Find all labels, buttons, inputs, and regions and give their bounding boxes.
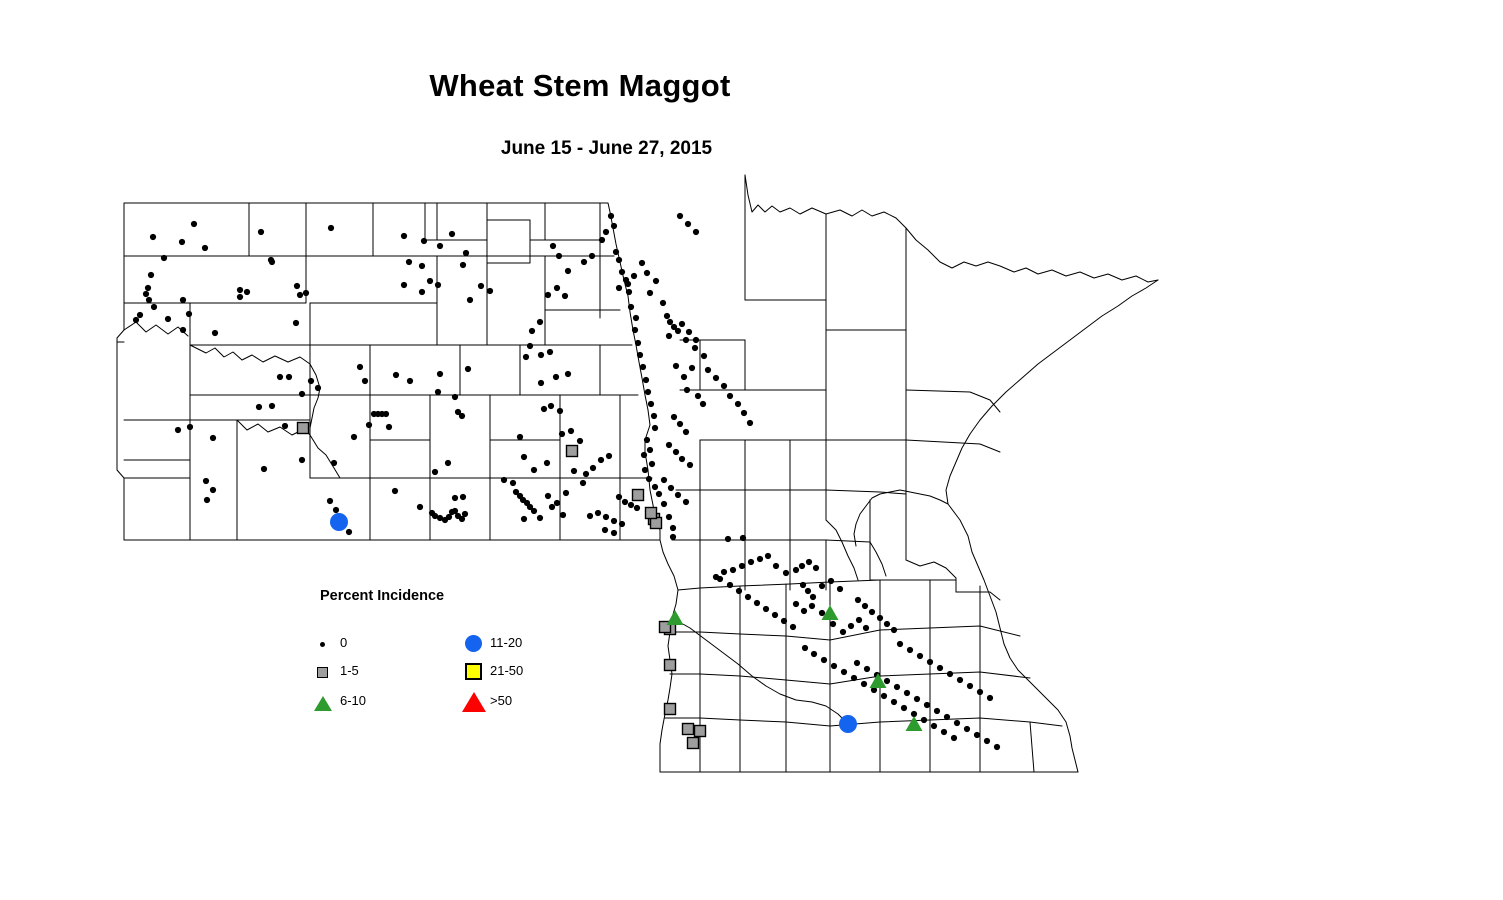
marker-11-20 bbox=[839, 715, 857, 733]
marker-zero bbox=[856, 617, 862, 623]
marker-zero bbox=[463, 250, 469, 256]
marker-1-5 bbox=[633, 490, 644, 501]
marker-zero bbox=[681, 374, 687, 380]
legend-label-1-5: 1-5 bbox=[340, 663, 359, 678]
marker-zero bbox=[802, 645, 808, 651]
marker-1-5 bbox=[567, 446, 578, 457]
marker-zero bbox=[331, 460, 337, 466]
marker-zero bbox=[437, 371, 443, 377]
marker-zero bbox=[937, 665, 943, 671]
marker-zero bbox=[864, 666, 870, 672]
marker-zero bbox=[606, 453, 612, 459]
marker-zero bbox=[683, 499, 689, 505]
marker-zero bbox=[811, 651, 817, 657]
marker-zero bbox=[862, 603, 868, 609]
gray-square-icon bbox=[312, 660, 336, 684]
marker-zero bbox=[452, 495, 458, 501]
marker-zero bbox=[783, 570, 789, 576]
marker-zero bbox=[927, 659, 933, 665]
marker-zero bbox=[161, 255, 167, 261]
marker-zero bbox=[661, 501, 667, 507]
marker-zero bbox=[700, 401, 706, 407]
marker-zero bbox=[521, 516, 527, 522]
marker-zero bbox=[647, 447, 653, 453]
marker-zero bbox=[781, 618, 787, 624]
red-triangle-icon bbox=[462, 690, 486, 714]
marker-zero bbox=[145, 285, 151, 291]
marker-zero bbox=[884, 621, 890, 627]
legend-title: Percent Incidence bbox=[320, 588, 444, 604]
marker-zero bbox=[705, 367, 711, 373]
marker-zero bbox=[670, 534, 676, 540]
marker-zero bbox=[556, 253, 562, 259]
marker-zero bbox=[954, 720, 960, 726]
marker-zero bbox=[277, 374, 283, 380]
marker-zero bbox=[884, 678, 890, 684]
marker-zero bbox=[831, 663, 837, 669]
marker-zero bbox=[557, 408, 563, 414]
marker-zero bbox=[713, 375, 719, 381]
marker-zero bbox=[550, 243, 556, 249]
marker-zero bbox=[619, 269, 625, 275]
marker-zero bbox=[191, 221, 197, 227]
marker-zero bbox=[661, 477, 667, 483]
marker-zero bbox=[460, 494, 466, 500]
marker-zero bbox=[671, 414, 677, 420]
marker-zero bbox=[554, 285, 560, 291]
marker-zero bbox=[626, 289, 632, 295]
marker-zero bbox=[445, 460, 451, 466]
marker-zero bbox=[407, 378, 413, 384]
marker-zero bbox=[616, 257, 622, 263]
marker-zero bbox=[809, 603, 815, 609]
marker-zero bbox=[641, 452, 647, 458]
marker-zero bbox=[693, 337, 699, 343]
marker-zero bbox=[819, 583, 825, 589]
marker-zero bbox=[686, 329, 692, 335]
marker-zero bbox=[462, 511, 468, 517]
marker-zero bbox=[366, 422, 372, 428]
marker-zero bbox=[294, 283, 300, 289]
marker-zero bbox=[666, 442, 672, 448]
marker-zero bbox=[740, 535, 746, 541]
marker-zero bbox=[437, 243, 443, 249]
marker-zero bbox=[293, 320, 299, 326]
marker-zero bbox=[531, 467, 537, 473]
marker-zero bbox=[692, 345, 698, 351]
marker-zero bbox=[269, 403, 275, 409]
marker-zero bbox=[545, 493, 551, 499]
marker-zero bbox=[628, 502, 634, 508]
marker-zero bbox=[435, 282, 441, 288]
marker-zero bbox=[894, 684, 900, 690]
marker-zero bbox=[328, 225, 334, 231]
marker-zero bbox=[901, 705, 907, 711]
marker-zero bbox=[633, 315, 639, 321]
marker-6-10 bbox=[906, 716, 923, 731]
marker-zero bbox=[670, 525, 676, 531]
marker-zero bbox=[637, 352, 643, 358]
marker-zero bbox=[683, 337, 689, 343]
marker-zero bbox=[656, 491, 662, 497]
marker-zero bbox=[435, 389, 441, 395]
marker-zero bbox=[269, 259, 275, 265]
marker-zero bbox=[315, 385, 321, 391]
marker-6-10 bbox=[667, 610, 684, 625]
marker-zero bbox=[598, 457, 604, 463]
marker-zero bbox=[639, 260, 645, 266]
marker-zero bbox=[204, 497, 210, 503]
marker-zero bbox=[548, 403, 554, 409]
marker-zero bbox=[951, 735, 957, 741]
marker-zero bbox=[460, 262, 466, 268]
marker-zero bbox=[571, 468, 577, 474]
marker-zero bbox=[616, 285, 622, 291]
marker-zero bbox=[891, 627, 897, 633]
marker-zero bbox=[821, 657, 827, 663]
marker-zero bbox=[432, 469, 438, 475]
marker-zero bbox=[799, 563, 805, 569]
marker-1-5 bbox=[695, 726, 706, 737]
marker-zero bbox=[237, 287, 243, 293]
map-page: Wheat Stem Maggot June 15 - June 27, 201… bbox=[0, 0, 1503, 900]
marker-zero bbox=[881, 693, 887, 699]
marker-zero bbox=[854, 660, 860, 666]
marker-zero bbox=[148, 272, 154, 278]
marker-zero bbox=[175, 427, 181, 433]
marker-zero bbox=[553, 374, 559, 380]
marker-zero bbox=[644, 270, 650, 276]
marker-zero bbox=[974, 732, 980, 738]
marker-zero bbox=[941, 729, 947, 735]
marker-zero bbox=[544, 460, 550, 466]
small-black-dot-icon bbox=[312, 632, 336, 656]
marker-zero bbox=[562, 293, 568, 299]
legend-label-0: 0 bbox=[340, 635, 347, 650]
marker-zero bbox=[944, 714, 950, 720]
marker-zero bbox=[730, 567, 736, 573]
marker-zero bbox=[914, 696, 920, 702]
marker-zero bbox=[549, 504, 555, 510]
marker-zero bbox=[994, 744, 1000, 750]
marker-zero bbox=[256, 404, 262, 410]
marker-zero bbox=[819, 610, 825, 616]
marker-zero bbox=[652, 484, 658, 490]
marker-zero bbox=[327, 498, 333, 504]
marker-zero bbox=[830, 621, 836, 627]
marker-zero bbox=[977, 689, 983, 695]
marker-zero bbox=[754, 600, 760, 606]
marker-zero bbox=[179, 239, 185, 245]
marker-zero bbox=[427, 278, 433, 284]
marker-zero bbox=[619, 521, 625, 527]
marker-zero bbox=[393, 372, 399, 378]
marker-zero bbox=[406, 259, 412, 265]
marker-zero bbox=[957, 677, 963, 683]
marker-zero bbox=[613, 249, 619, 255]
marker-zero bbox=[529, 328, 535, 334]
marker-zero bbox=[667, 319, 673, 325]
marker-zero bbox=[664, 313, 670, 319]
marker-zero bbox=[668, 485, 674, 491]
marker-zero bbox=[727, 582, 733, 588]
marker-zero bbox=[748, 559, 754, 565]
marker-zero bbox=[855, 597, 861, 603]
marker-zero bbox=[362, 378, 368, 384]
marker-zero bbox=[581, 259, 587, 265]
marker-zero bbox=[137, 312, 143, 318]
marker-zero bbox=[563, 490, 569, 496]
marker-zero bbox=[721, 383, 727, 389]
marker-zero bbox=[203, 478, 209, 484]
marker-zero bbox=[392, 488, 398, 494]
marker-zero bbox=[133, 317, 139, 323]
marker-zero bbox=[521, 454, 527, 460]
marker-zero bbox=[595, 510, 601, 516]
marker-zero bbox=[772, 612, 778, 618]
yellow-square-icon bbox=[462, 660, 486, 684]
marker-zero bbox=[745, 594, 751, 600]
marker-zero bbox=[510, 480, 516, 486]
marker-zero bbox=[897, 641, 903, 647]
marker-zero bbox=[679, 456, 685, 462]
marker-zero bbox=[840, 629, 846, 635]
marker-zero bbox=[538, 380, 544, 386]
marker-zero bbox=[683, 429, 689, 435]
marker-zero bbox=[673, 449, 679, 455]
marker-zero bbox=[806, 559, 812, 565]
marker-zero bbox=[666, 333, 672, 339]
marker-zero bbox=[628, 304, 634, 310]
marker-zero bbox=[297, 292, 303, 298]
marker-zero bbox=[675, 492, 681, 498]
marker-zero bbox=[537, 319, 543, 325]
marker-zero bbox=[805, 588, 811, 594]
marker-zero bbox=[611, 518, 617, 524]
marker-zero bbox=[599, 237, 605, 243]
marker-zero bbox=[666, 514, 672, 520]
marker-zero bbox=[523, 354, 529, 360]
marker-zero bbox=[602, 527, 608, 533]
marker-zero bbox=[559, 431, 565, 437]
marker-zero bbox=[478, 283, 484, 289]
marker-zero bbox=[800, 582, 806, 588]
marker-zero bbox=[611, 223, 617, 229]
marker-zero bbox=[693, 229, 699, 235]
marker-zero bbox=[589, 253, 595, 259]
marker-zero bbox=[921, 717, 927, 723]
marker-zero bbox=[841, 669, 847, 675]
marker-zero bbox=[151, 304, 157, 310]
marker-zero bbox=[580, 480, 586, 486]
marker-zero bbox=[537, 515, 543, 521]
blue-circle-icon bbox=[462, 632, 486, 656]
marker-zero bbox=[645, 389, 651, 395]
marker-zero bbox=[554, 500, 560, 506]
marker-zero bbox=[212, 330, 218, 336]
marker-zero bbox=[931, 723, 937, 729]
marker-zero bbox=[180, 297, 186, 303]
marker-zero bbox=[813, 565, 819, 571]
marker-zero bbox=[924, 702, 930, 708]
marker-11-20 bbox=[330, 513, 348, 531]
marker-zero bbox=[244, 289, 250, 295]
marker-zero bbox=[793, 601, 799, 607]
marker-zero bbox=[987, 695, 993, 701]
marker-zero bbox=[333, 507, 339, 513]
marker-zero bbox=[547, 349, 553, 355]
marker-zero bbox=[417, 504, 423, 510]
marker-zero bbox=[631, 273, 637, 279]
marker-zero bbox=[684, 387, 690, 393]
marker-zero bbox=[282, 423, 288, 429]
marker-zero bbox=[736, 588, 742, 594]
marker-zero bbox=[449, 231, 455, 237]
marker-zero bbox=[695, 393, 701, 399]
marker-zero bbox=[649, 461, 655, 467]
marker-zero bbox=[202, 245, 208, 251]
marker-zero bbox=[877, 615, 883, 621]
marker-1-5 bbox=[683, 724, 694, 735]
marker-zero bbox=[675, 328, 681, 334]
marker-1-5 bbox=[665, 704, 676, 715]
marker-1-5 bbox=[646, 508, 657, 519]
marker-zero bbox=[517, 434, 523, 440]
marker-zero bbox=[401, 282, 407, 288]
marker-zero bbox=[237, 294, 243, 300]
marker-zero bbox=[747, 420, 753, 426]
marker-zero bbox=[643, 377, 649, 383]
marker-zero bbox=[357, 364, 363, 370]
marker-zero bbox=[186, 311, 192, 317]
marker-zero bbox=[452, 394, 458, 400]
marker-zero bbox=[735, 401, 741, 407]
marker-zero bbox=[143, 291, 149, 297]
marker-zero bbox=[869, 609, 875, 615]
marker-zero bbox=[644, 437, 650, 443]
marker-zero bbox=[646, 476, 652, 482]
marker-zero bbox=[467, 297, 473, 303]
marker-zero bbox=[587, 513, 593, 519]
marker-zero bbox=[679, 321, 685, 327]
marker-zero bbox=[652, 425, 658, 431]
marker-zero bbox=[677, 213, 683, 219]
marker-zero bbox=[757, 556, 763, 562]
marker-zero bbox=[861, 681, 867, 687]
incidence-map bbox=[0, 0, 1503, 900]
marker-zero bbox=[538, 352, 544, 358]
marker-zero bbox=[541, 406, 547, 412]
marker-zero bbox=[590, 465, 596, 471]
marker-zero bbox=[383, 411, 389, 417]
marker-zero bbox=[739, 563, 745, 569]
marker-zero bbox=[651, 413, 657, 419]
marker-zero bbox=[210, 435, 216, 441]
marker-zero bbox=[583, 471, 589, 477]
legend: Percent Incidence 0 1-5 6-10 11-20 21-50… bbox=[310, 588, 560, 723]
marker-zero bbox=[891, 699, 897, 705]
marker-zero bbox=[150, 234, 156, 240]
marker-zero bbox=[210, 487, 216, 493]
marker-zero bbox=[660, 300, 666, 306]
marker-zero bbox=[258, 229, 264, 235]
marker-zero bbox=[180, 327, 186, 333]
marker-zero bbox=[308, 378, 314, 384]
marker-zero bbox=[851, 675, 857, 681]
marker-zero bbox=[907, 647, 913, 653]
marker-zero bbox=[351, 434, 357, 440]
marker-zero bbox=[634, 505, 640, 511]
survey-markers-layer bbox=[0, 0, 1503, 900]
marker-zero bbox=[848, 623, 854, 629]
marker-zero bbox=[765, 553, 771, 559]
marker-zero bbox=[632, 327, 638, 333]
marker-zero bbox=[647, 290, 653, 296]
marker-zero bbox=[465, 366, 471, 372]
marker-zero bbox=[611, 530, 617, 536]
marker-zero bbox=[419, 263, 425, 269]
marker-zero bbox=[261, 466, 267, 472]
marker-zero bbox=[165, 316, 171, 322]
marker-zero bbox=[565, 268, 571, 274]
marker-zero bbox=[459, 413, 465, 419]
marker-zero bbox=[653, 278, 659, 284]
marker-zero bbox=[560, 512, 566, 518]
marker-zero bbox=[577, 438, 583, 444]
marker-zero bbox=[299, 457, 305, 463]
marker-zero bbox=[648, 401, 654, 407]
marker-zero bbox=[717, 576, 723, 582]
marker-1-5 bbox=[298, 423, 309, 434]
marker-zero bbox=[616, 494, 622, 500]
marker-zero bbox=[565, 371, 571, 377]
marker-zero bbox=[625, 281, 631, 287]
marker-zero bbox=[642, 467, 648, 473]
marker-zero bbox=[773, 563, 779, 569]
marker-zero bbox=[501, 477, 507, 483]
marker-zero bbox=[790, 624, 796, 630]
marker-zero bbox=[917, 653, 923, 659]
marker-zero bbox=[603, 229, 609, 235]
marker-zero bbox=[904, 690, 910, 696]
marker-zero bbox=[146, 297, 152, 303]
marker-1-5 bbox=[688, 738, 699, 749]
marker-zero bbox=[727, 393, 733, 399]
marker-zero bbox=[793, 567, 799, 573]
marker-zero bbox=[603, 514, 609, 520]
marker-zero bbox=[934, 708, 940, 714]
marker-zero bbox=[947, 671, 953, 677]
marker-zero bbox=[608, 213, 614, 219]
marker-zero bbox=[419, 289, 425, 295]
marker-zero bbox=[725, 536, 731, 542]
marker-zero bbox=[721, 569, 727, 575]
marker-zero bbox=[286, 374, 292, 380]
marker-zero bbox=[568, 428, 574, 434]
marker-zero bbox=[687, 462, 693, 468]
marker-zero bbox=[741, 410, 747, 416]
marker-zero bbox=[863, 625, 869, 631]
marker-zero bbox=[685, 221, 691, 227]
marker-zero bbox=[640, 364, 646, 370]
marker-zero bbox=[677, 421, 683, 427]
marker-zero bbox=[964, 726, 970, 732]
marker-zero bbox=[401, 233, 407, 239]
marker-zero bbox=[828, 578, 834, 584]
legend-label-over-50: >50 bbox=[490, 693, 512, 708]
marker-1-5 bbox=[665, 660, 676, 671]
legend-label-21-50: 21-50 bbox=[490, 663, 523, 678]
